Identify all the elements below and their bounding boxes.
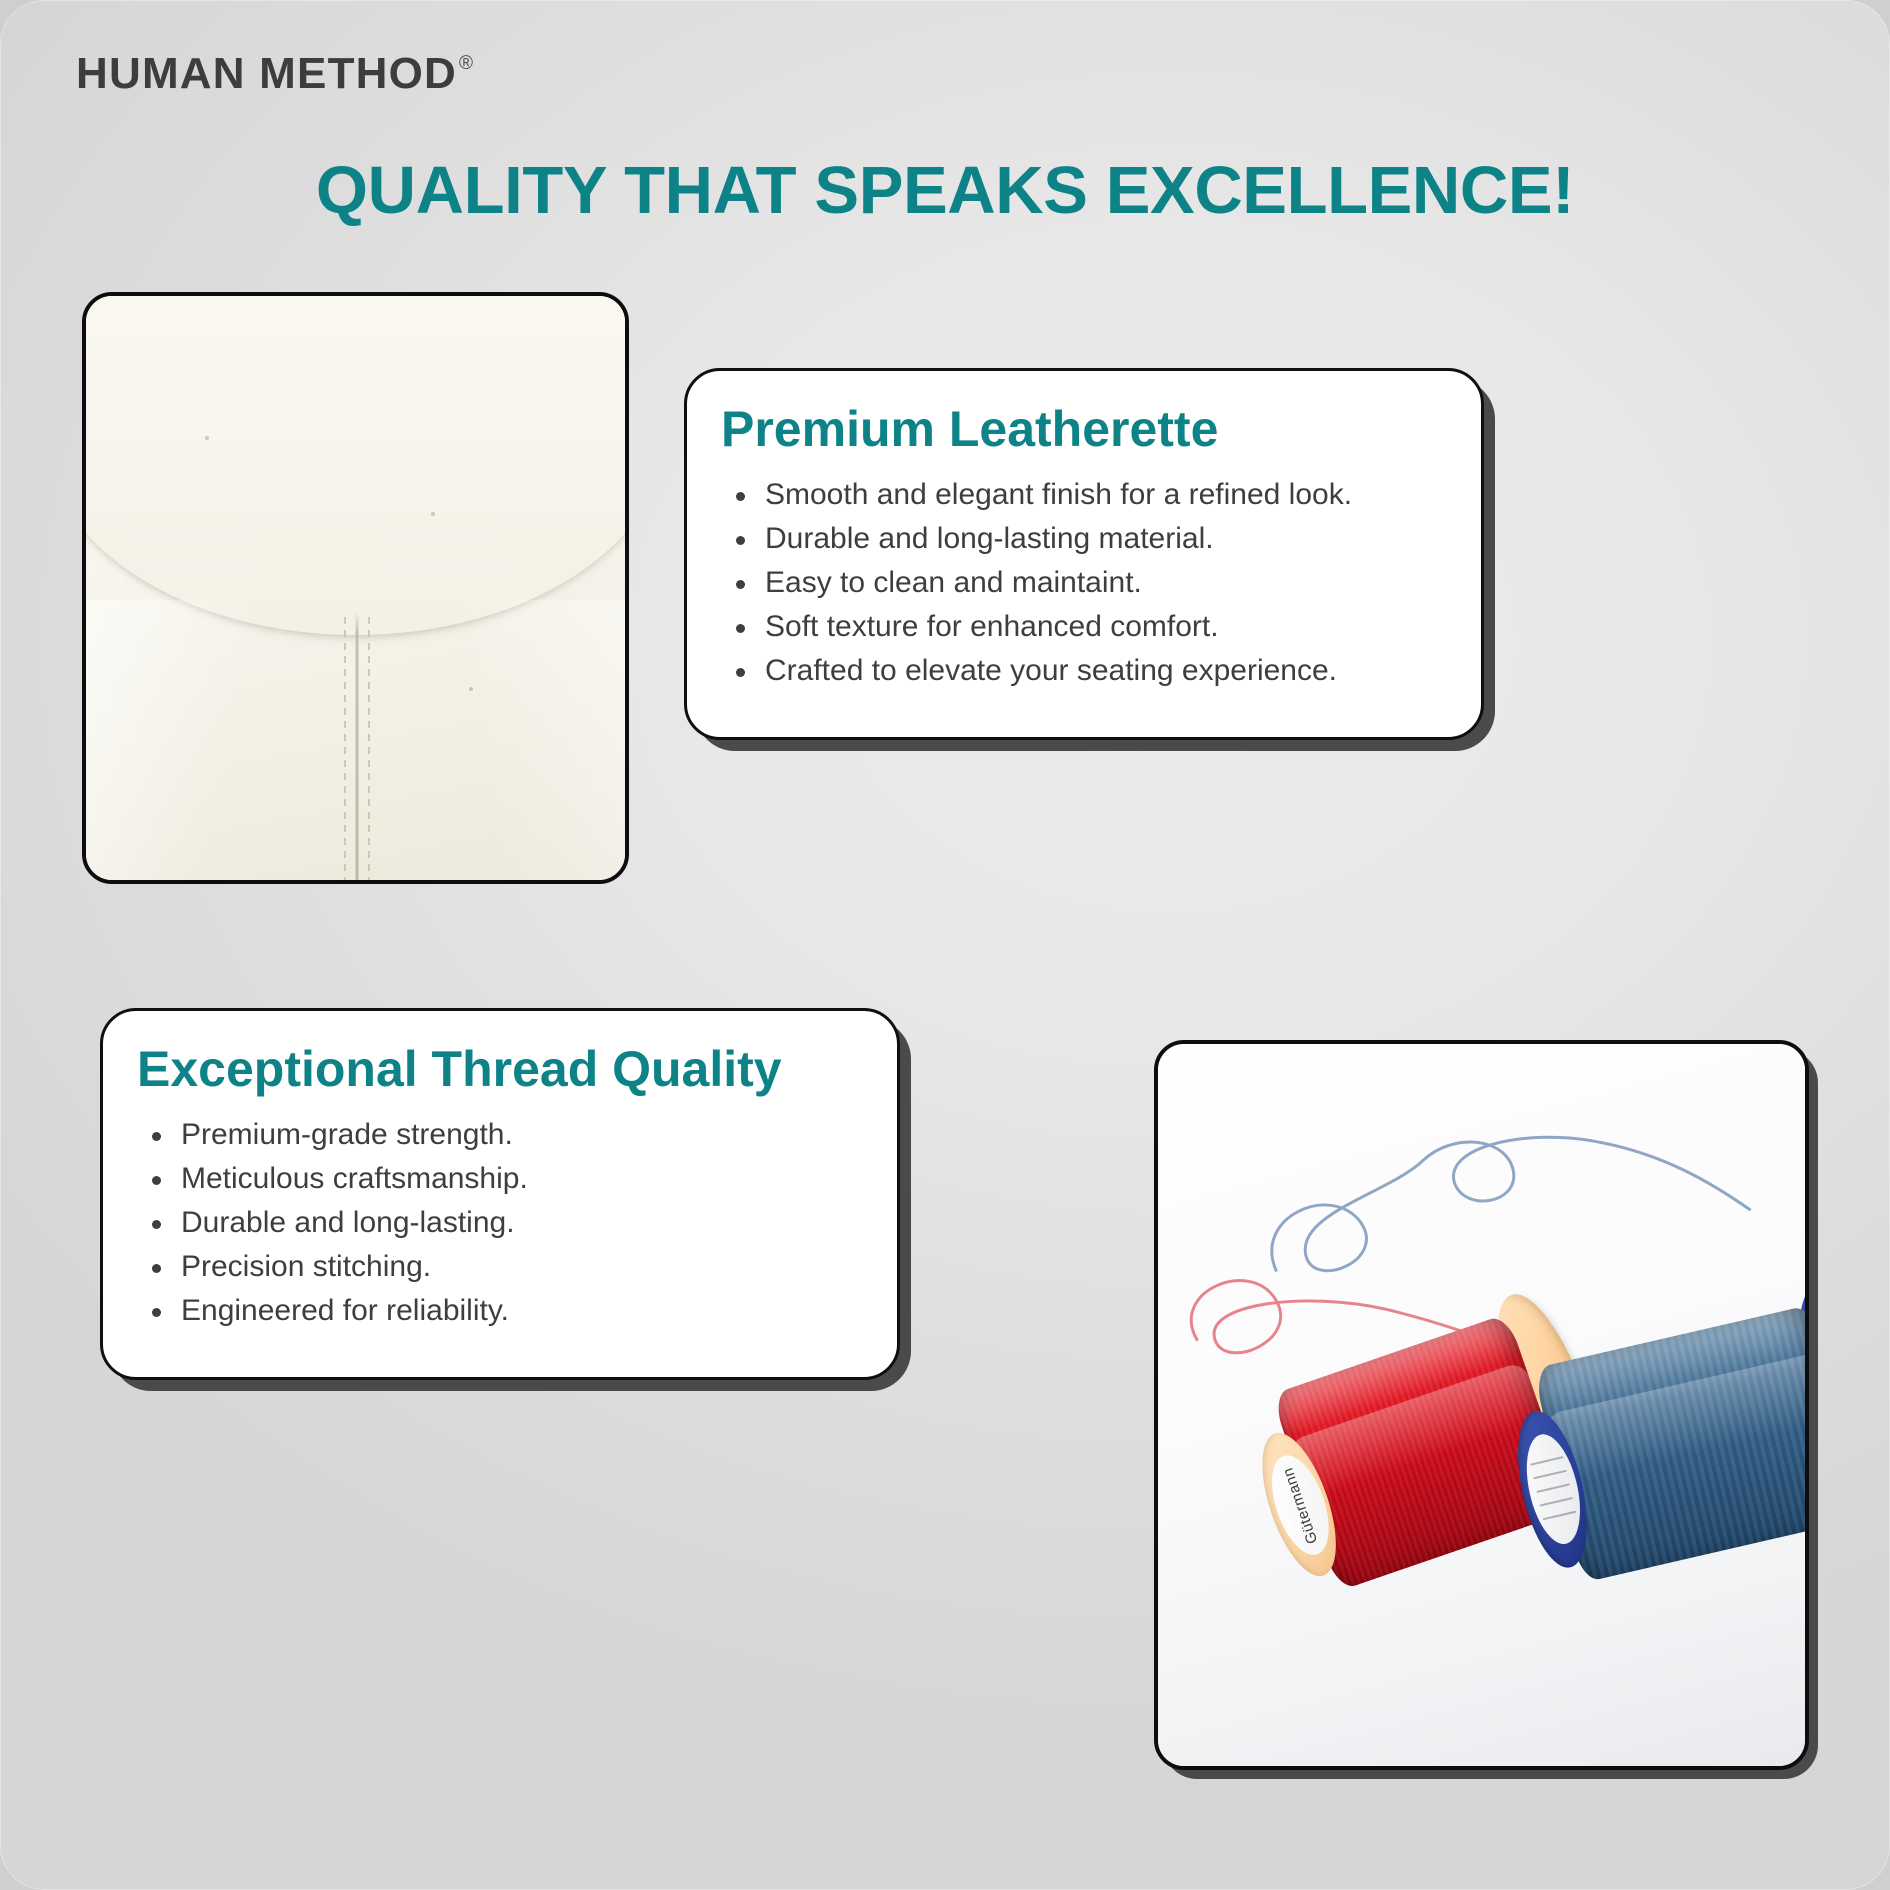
brand-name: HUMAN METHOD: [76, 52, 457, 96]
page-title: QUALITY THAT SPEAKS EXCELLENCE!: [0, 152, 1890, 229]
list-item: Durable and long-lasting material.: [721, 517, 1447, 561]
leatherette-seam: [356, 611, 359, 880]
bullet-icon: [736, 536, 745, 545]
list-item-label: Durable and long-lasting material.: [765, 522, 1214, 555]
list-item: Smooth and elegant finish for a refined …: [721, 473, 1447, 517]
list-item-label: Durable and long-lasting.: [181, 1206, 515, 1239]
texture-speck: [205, 436, 209, 440]
card-title: Exceptional Thread Quality: [137, 1041, 863, 1097]
label-line: [1530, 1456, 1564, 1466]
list-item-label: Premium-grade strength.: [181, 1118, 513, 1151]
brand-logo: HUMAN METHOD ®: [76, 52, 473, 96]
bullet-icon: [736, 624, 745, 633]
label-line: [1537, 1483, 1571, 1493]
registered-trademark-icon: ®: [459, 54, 473, 73]
card-exceptional-thread-quality: Exceptional Thread Quality Premium-grade…: [100, 1008, 900, 1380]
bullet-icon: [152, 1176, 161, 1185]
card-bullet-list: Premium-grade strength. Meticulous craft…: [137, 1113, 863, 1333]
bullet-icon: [152, 1308, 161, 1317]
card-premium-leatherette: Premium Leatherette Smooth and elegant f…: [684, 368, 1484, 740]
label-line: [1543, 1510, 1577, 1520]
list-item: Precision stitching.: [137, 1245, 863, 1289]
list-item-label: Meticulous craftsmanship.: [181, 1162, 528, 1195]
list-item-label: Smooth and elegant finish for a refined …: [765, 478, 1352, 511]
texture-speck: [431, 512, 435, 516]
bullet-icon: [152, 1132, 161, 1141]
thread-scene: Gütermann: [1158, 1044, 1805, 1766]
list-item-label: Precision stitching.: [181, 1250, 431, 1283]
bullet-icon: [736, 492, 745, 501]
infographic-poster: HUMAN METHOD ® QUALITY THAT SPEAKS EXCEL…: [0, 0, 1890, 1890]
list-item: Meticulous craftsmanship.: [137, 1157, 863, 1201]
list-item-label: Crafted to elevate your seating experien…: [765, 654, 1337, 687]
photo-frame: Gütermann: [1154, 1040, 1809, 1770]
stitch-line-right: [368, 617, 370, 880]
card-bullet-list: Smooth and elegant finish for a refined …: [721, 473, 1447, 693]
stitch-line-left: [344, 617, 346, 880]
thread-spools-photo: Gütermann: [1154, 1040, 1809, 1770]
leatherette-top-panel: [82, 292, 629, 635]
bullet-icon: [736, 668, 745, 677]
leatherette-photo: [82, 292, 629, 884]
card-title: Premium Leatherette: [721, 401, 1447, 457]
photo-frame: [82, 292, 629, 884]
leatherette-sheen-right: [420, 600, 625, 880]
bullet-icon: [736, 580, 745, 589]
card-body: Premium Leatherette Smooth and elegant f…: [684, 368, 1484, 740]
list-item-label: Easy to clean and maintaint.: [765, 566, 1142, 599]
list-item: Crafted to elevate your seating experien…: [721, 649, 1447, 693]
label-line: [1540, 1497, 1574, 1507]
bullet-icon: [152, 1264, 161, 1273]
list-item: Durable and long-lasting.: [137, 1201, 863, 1245]
leatherette-sheen-left: [86, 600, 291, 880]
list-item: Soft texture for enhanced comfort.: [721, 605, 1447, 649]
card-body: Exceptional Thread Quality Premium-grade…: [100, 1008, 900, 1380]
list-item: Engineered for reliability.: [137, 1289, 863, 1333]
list-item-label: Engineered for reliability.: [181, 1294, 509, 1327]
list-item: Easy to clean and maintaint.: [721, 561, 1447, 605]
texture-speck: [469, 687, 473, 691]
bullet-icon: [152, 1220, 161, 1229]
list-item: Premium-grade strength.: [137, 1113, 863, 1157]
label-line: [1534, 1470, 1568, 1480]
list-item-label: Soft texture for enhanced comfort.: [765, 610, 1219, 643]
leatherette-texture: [86, 296, 625, 880]
